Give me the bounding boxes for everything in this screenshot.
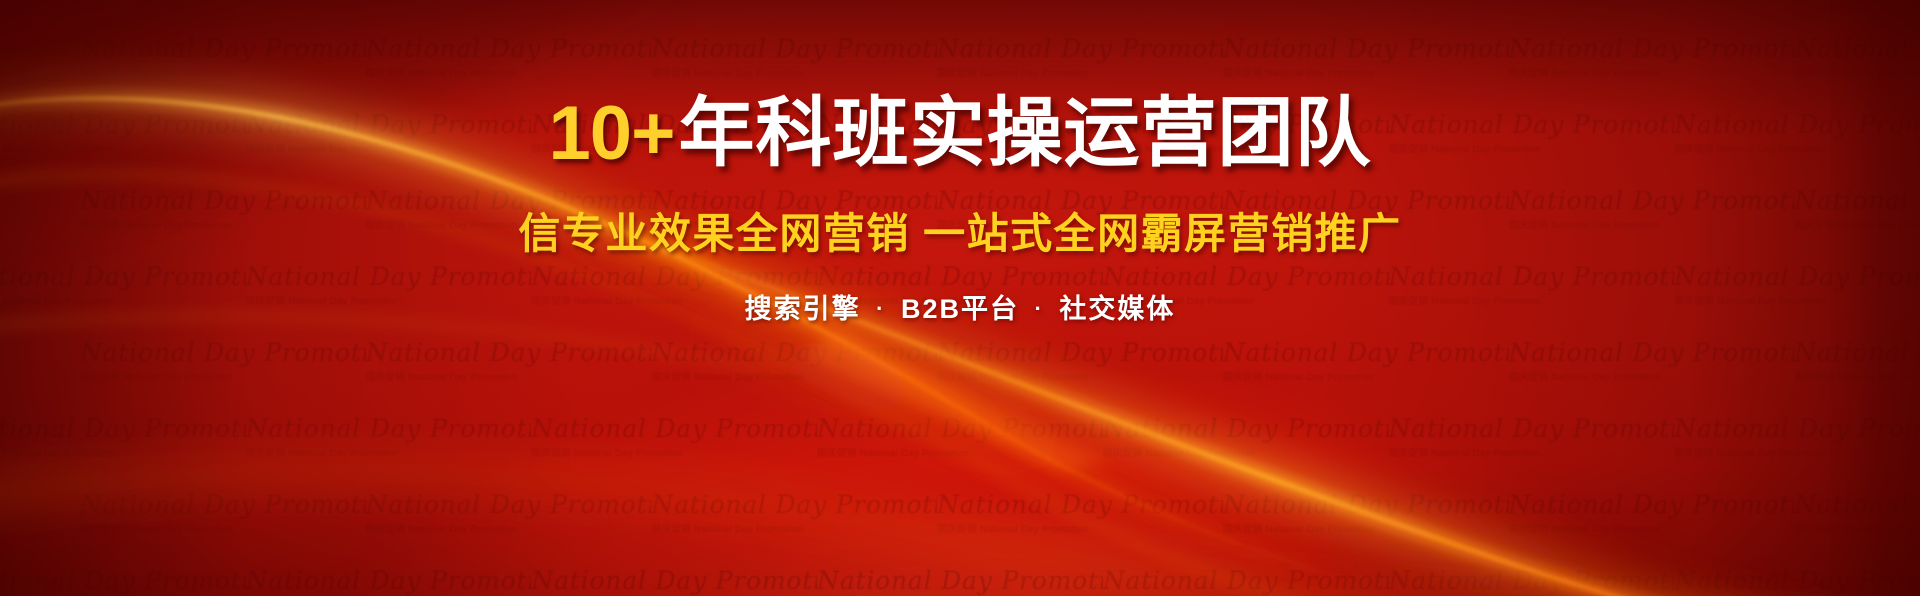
page-title: 10+年科班实操运营团队 (0, 96, 1920, 172)
headline-text: 年科班实操运营团队 (678, 91, 1371, 176)
bullet-separator-icon: · (1035, 296, 1044, 321)
bullet-separator-icon: · (876, 296, 885, 321)
tagline-item-search-engine: 搜索引擎 (745, 294, 861, 324)
banner-text-block: 10+年科班实操运营团队 信专业效果全网营销 一站式全网霸屏营销推广 搜索引擎 … (0, 96, 1920, 326)
promo-banner: National Day Promotion国庆促销 National Day … (0, 0, 1920, 596)
headline-number: 10+ (549, 91, 675, 176)
tagline-item-social-media: 社交媒体 (1059, 294, 1175, 324)
banner-tagline: 搜索引擎 · B2B平台 · 社交媒体 (0, 287, 1920, 326)
tagline-item-b2b-platform: B2B平台 (901, 294, 1019, 324)
banner-subtitle: 信专业效果全网营销 一站式全网霸屏营销推广 (0, 200, 1920, 261)
